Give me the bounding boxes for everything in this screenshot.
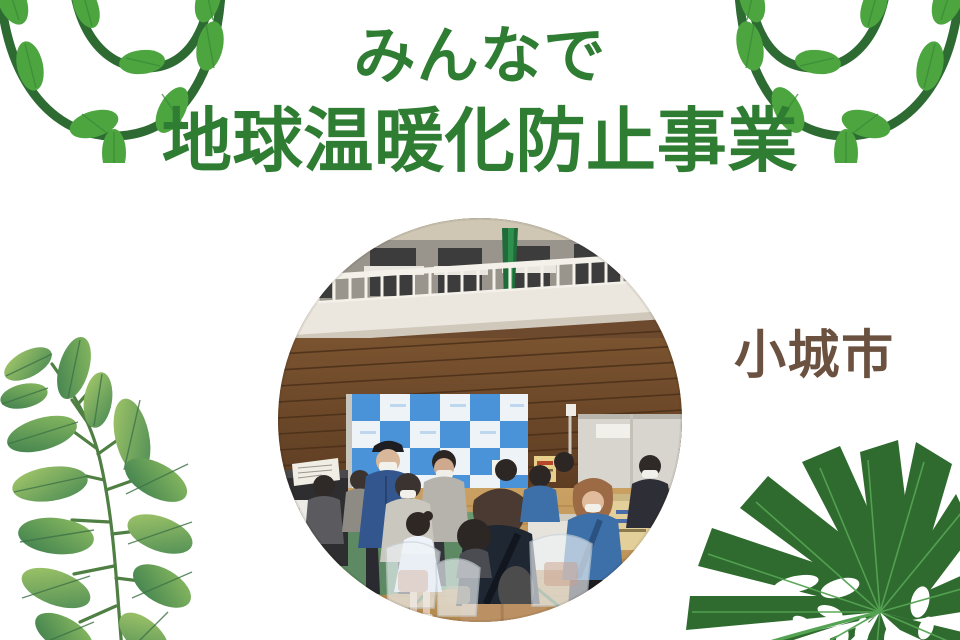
city-name-label: 小城市: [734, 330, 895, 382]
title-line-2: 地球温暖化防止事業: [0, 106, 960, 176]
leaf-branch-bottom-left-icon: [0, 330, 254, 640]
poster-title: みんなで 地球温暖化防止事業: [0, 26, 960, 176]
monstera-leaf-bottom-right-icon: [684, 416, 960, 640]
event-photo-illustration: [278, 218, 682, 622]
poster-canvas: みんなで 地球温暖化防止事業 小城市: [0, 0, 960, 640]
event-photo: [278, 218, 682, 622]
title-line-1: みんなで: [0, 26, 960, 88]
